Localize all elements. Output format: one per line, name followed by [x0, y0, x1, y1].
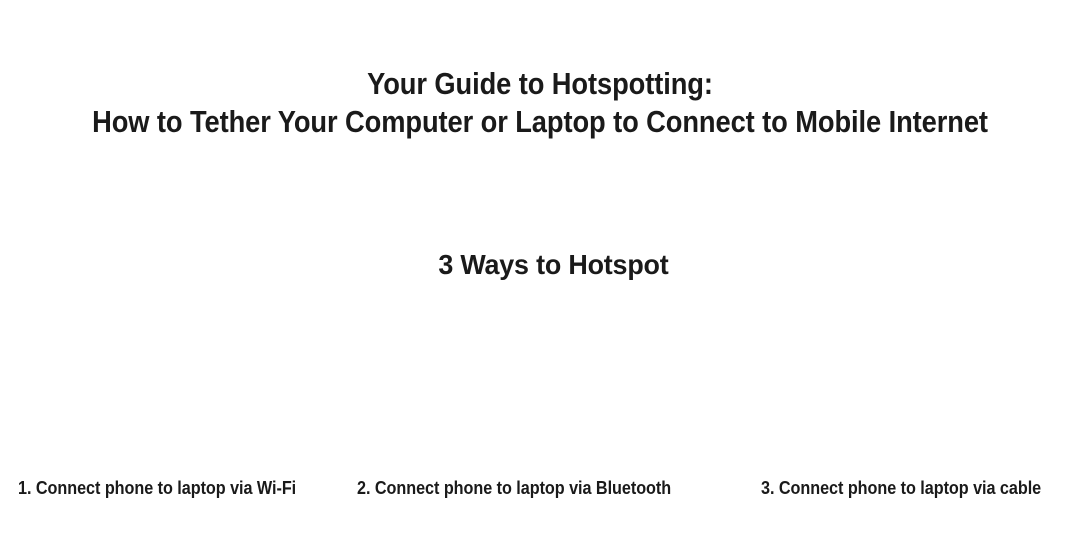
page-title: Your Guide to Hotspotting: How to Tether…: [65, 65, 1015, 141]
page-title-line-1: Your Guide to Hotspotting:: [65, 65, 1015, 103]
method-item-wifi: 1. Connect phone to laptop via Wi-Fi: [0, 288, 338, 518]
page-title-line-2: How to Tether Your Computer or Laptop to…: [65, 103, 1015, 141]
method-illustration-cable: [761, 288, 1080, 477]
article-page: Your Guide to Hotspotting: How to Tether…: [0, 0, 1080, 552]
methods-row: 1. Connect phone to laptop via Wi-Fi 2. …: [0, 288, 1080, 518]
method-item-cable: 3. Connect phone to laptop via cable: [706, 288, 1080, 518]
method-item-bluetooth: 2. Connect phone to laptop via Bluetooth: [338, 288, 706, 518]
method-caption-bluetooth: 2. Connect phone to laptop via Bluetooth: [357, 477, 671, 518]
method-caption-cable: 3. Connect phone to laptop via cable: [761, 477, 1041, 518]
method-illustration-wifi: [18, 288, 338, 477]
method-illustration-bluetooth: [357, 288, 706, 477]
section-heading: 3 Ways to Hotspot: [35, 247, 1072, 283]
method-caption-wifi: 1. Connect phone to laptop via Wi-Fi: [18, 477, 296, 518]
